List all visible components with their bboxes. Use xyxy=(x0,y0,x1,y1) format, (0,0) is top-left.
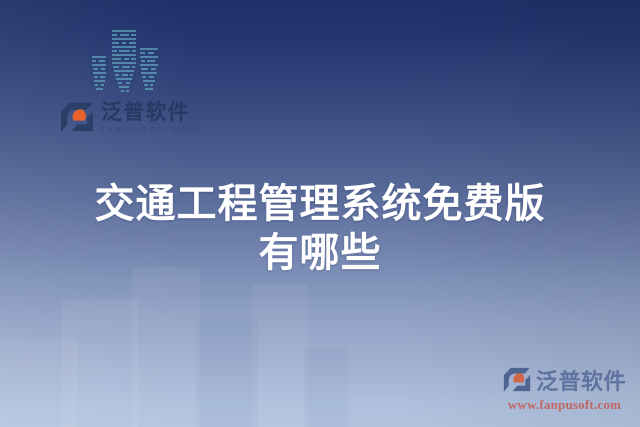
fanpu-logo-mark-icon xyxy=(503,367,531,393)
watermark-url: www.fanpusoft.com xyxy=(508,397,621,413)
ghost-building-5 xyxy=(252,285,308,427)
watermark: 泛普软件 www.fanpusoft.com xyxy=(503,364,626,413)
headline-line-2: 有哪些 xyxy=(0,229,640,278)
headline-line-1: 交通工程管理系统免费版 xyxy=(0,180,640,229)
fanpu-logo-mark-icon xyxy=(60,102,94,133)
brand-logo: 泛普软件 FANPU SOFTWARE xyxy=(60,102,203,134)
ghost-building-4 xyxy=(196,319,258,427)
watermark-logo-row: 泛普软件 xyxy=(503,364,626,396)
ghost-building-6 xyxy=(304,349,348,427)
brand-name-cn: 泛普软件 xyxy=(101,102,203,123)
brand-logo-text: 泛普软件 FANPU SOFTWARE xyxy=(101,102,203,134)
pixel-skyline-icon xyxy=(86,28,168,102)
watermark-brand-name: 泛普软件 xyxy=(536,364,626,396)
ghost-building-2 xyxy=(62,299,138,427)
promotional-banner: 泛普软件 FANPU SOFTWARE 交通工程管理系统免费版 有哪些 泛普软件… xyxy=(0,0,640,427)
brand-name-en: FANPU SOFTWARE xyxy=(101,126,203,134)
ghost-building-3 xyxy=(132,267,200,427)
banner-headline: 交通工程管理系统免费版 有哪些 xyxy=(0,180,640,278)
